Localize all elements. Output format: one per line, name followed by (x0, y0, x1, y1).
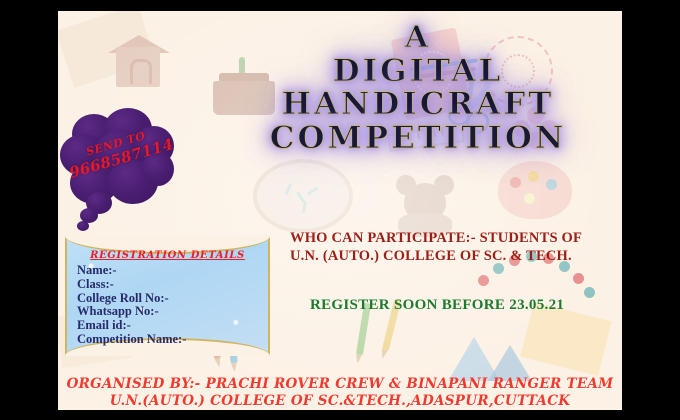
letterbox-bar-top (0, 0, 680, 11)
embroidery-hoop-icon (253, 159, 353, 233)
registration-details-panel: REGISTRATION DETAILS Name:- Class:- Coll… (65, 236, 270, 356)
registration-field: Whatsapp No:- (77, 305, 186, 319)
paper-sheet-decor (58, 11, 156, 88)
title-line-4: COMPETITION (218, 123, 618, 155)
organiser-footer: ORGANISED BY:- PRACHI ROVER CREW & BINAP… (58, 376, 622, 410)
poster-image: A DIGITAL HANDICRAFT COMPETITION SEND TO… (0, 0, 680, 420)
registration-field: Competition Name:- (77, 333, 186, 347)
poster-canvas: A DIGITAL HANDICRAFT COMPETITION SEND TO… (58, 11, 622, 410)
registration-field: College Roll No:- (77, 292, 186, 306)
registration-field: Name:- (77, 264, 186, 278)
registration-field: Email id:- (77, 319, 186, 333)
register-deadline-text: REGISTER SOON BEFORE 23.05.21 (310, 297, 622, 314)
birdhouse-icon (108, 29, 170, 87)
title-line-1: A (218, 23, 618, 54)
title-line-3: HANDICRAFT (218, 89, 618, 121)
who-line-2: U.N. (AUTO.) COLLEGE OF SC. & TECH. (290, 247, 620, 265)
letterbox-bar-left (0, 0, 58, 420)
who-can-participate-text: WHO CAN PARTICIPATE:- STUDENTS OF U.N. (… (290, 229, 620, 265)
teddy-bear-icon (388, 171, 462, 237)
paint-palette-icon (498, 161, 572, 219)
registration-field-list: Name:- Class:- College Roll No:- Whatsap… (77, 264, 186, 347)
letterbox-bar-right (622, 0, 680, 420)
footer-line-2: U.N.(AUTO.) COLLEGE OF SC.&TECH.,ADASPUR… (58, 393, 622, 410)
registration-field: Class:- (77, 278, 186, 292)
footer-line-1: ORGANISED BY:- PRACHI ROVER CREW & BINAP… (58, 376, 622, 393)
who-line-1: WHO CAN PARTICIPATE:- STUDENTS OF (290, 229, 620, 247)
letterbox-bar-bottom (0, 410, 680, 420)
registration-details-heading: REGISTRATION DETAILS (65, 250, 270, 261)
origami-decor (448, 329, 558, 381)
title-line-2: DIGITAL (218, 56, 618, 88)
send-to-thought-bubble: SEND TO 9668587114 (58, 108, 176, 233)
poster-title: A DIGITAL HANDICRAFT COMPETITION (218, 23, 618, 156)
